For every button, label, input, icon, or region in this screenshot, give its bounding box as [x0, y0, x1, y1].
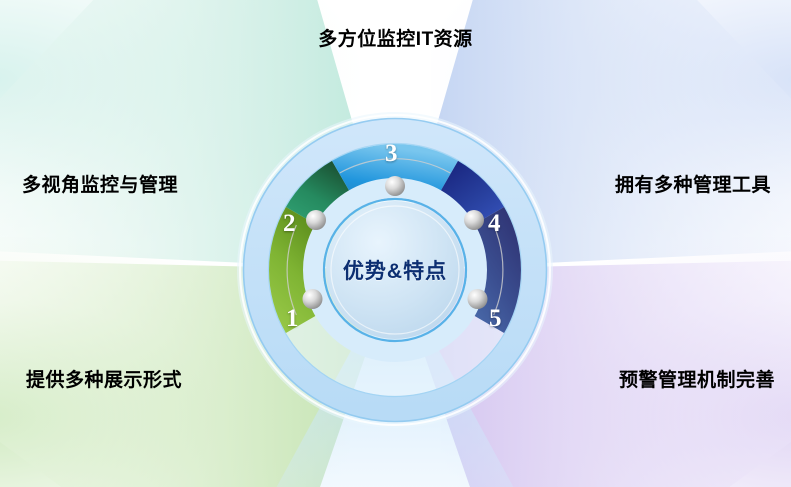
caption-left-top: 多视角监控与管理 [22, 170, 178, 197]
bead-two[interactable] [306, 210, 326, 230]
caption-right-bottom: 预警管理机制完善 [619, 365, 775, 392]
infographic-canvas: 1 2 3 4 5 优势&特点 多方位监控IT资源 多视角监控与管理 提供多种展… [0, 0, 791, 487]
bead-four[interactable] [464, 210, 484, 230]
caption-right-top: 拥有多种管理工具 [615, 170, 771, 197]
bead-five[interactable] [468, 289, 488, 309]
wheel-diagram [235, 110, 555, 430]
bead-three[interactable] [385, 176, 405, 196]
bead-one[interactable] [303, 289, 323, 309]
center-circle[interactable] [326, 201, 464, 339]
caption-top: 多方位监控IT资源 [0, 24, 791, 51]
caption-left-bottom: 提供多种展示形式 [26, 365, 182, 392]
